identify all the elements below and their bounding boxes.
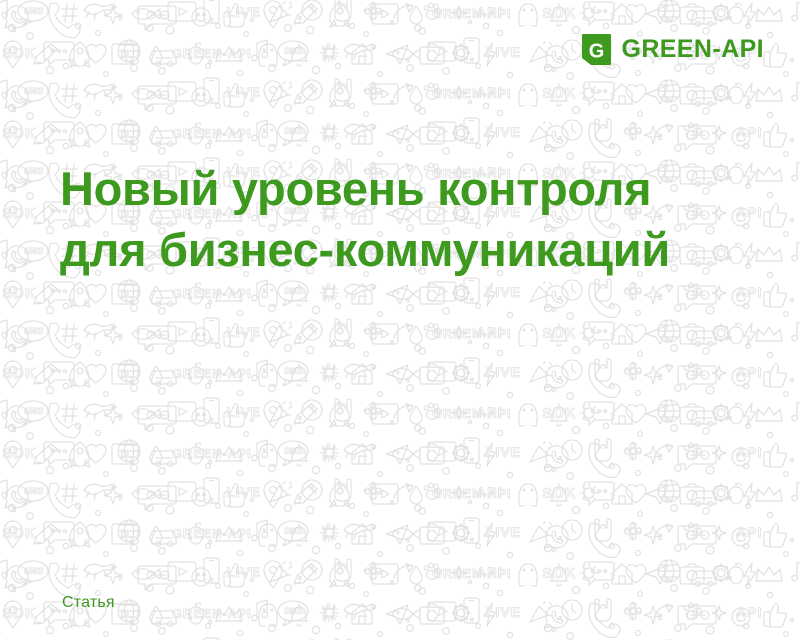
doodle-pattern-background: GREEN-API xyxy=(0,0,800,640)
logo-wordmark: GREEN-API xyxy=(621,37,764,62)
logo-mark-letter: G xyxy=(589,41,605,63)
content-type-label: Статья xyxy=(62,594,115,612)
article-cover: GREEN-API xyxy=(0,0,800,640)
page-title-line-1: Новый уровень контроля xyxy=(60,158,670,219)
page-title-line-2: для бизнес-коммуникаций xyxy=(60,219,670,280)
green-api-g-mark-icon: G xyxy=(581,33,612,66)
page-title: Новый уровень контроля для бизнес-коммун… xyxy=(60,158,670,280)
green-api-logo[interactable]: G GREEN-API xyxy=(581,33,764,66)
